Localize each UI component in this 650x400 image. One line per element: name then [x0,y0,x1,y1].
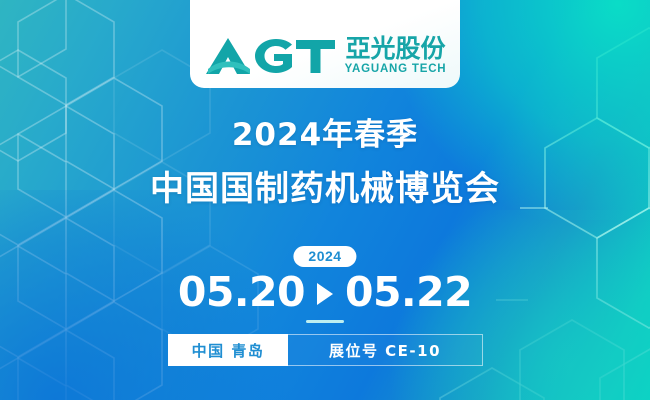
logo-lockup: 亞光股份 YAGUANG TECH [204,36,447,76]
headline-line-2: 中国国制药机械博览会 [0,171,650,208]
location-label: 中国 青岛 [168,334,288,366]
info-bar: 中国 青岛 展位号 CE-10 [168,334,483,366]
date-start: 05.20 [178,272,305,313]
date-range: 05.20 05.22 [0,272,650,313]
year-badge: 2024 [293,246,356,267]
headline-block: 2024年春季 中国国制药机械博览会 [0,118,650,208]
logo-card: 亞光股份 YAGUANG TECH [190,0,460,88]
play-triangle-icon [317,283,333,305]
date-end: 05.22 [345,272,472,313]
booth-label: 展位号 CE-10 [288,334,483,366]
headline-line-1: 2024年春季 [0,118,650,152]
logo-text-block: 亞光股份 YAGUANG TECH [345,36,447,76]
agt-logo-icon [204,36,336,76]
logo-company-en: YAGUANG TECH [345,64,447,76]
date-divider [306,320,344,323]
exhibition-banner: 亞光股份 YAGUANG TECH 2024年春季 中国国制药机械博览会 202… [0,0,650,400]
logo-company-cn: 亞光股份 [345,36,445,61]
